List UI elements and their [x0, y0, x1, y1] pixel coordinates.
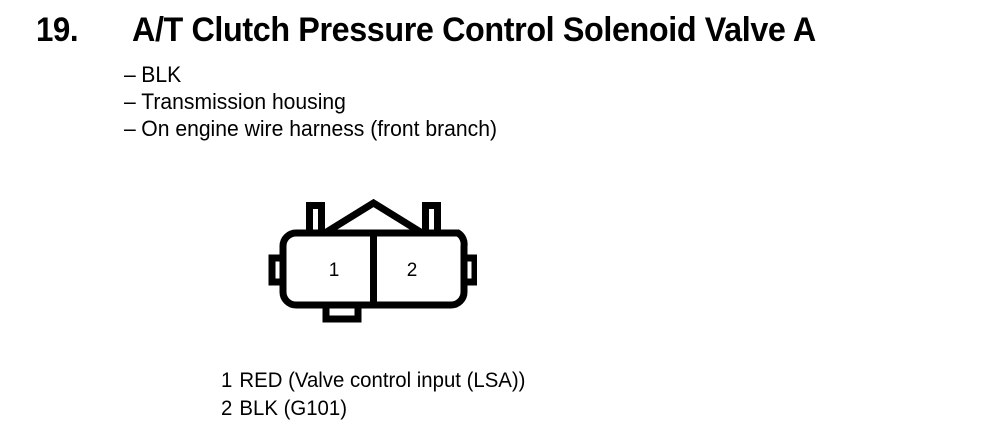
list-item: – BLK [124, 61, 497, 88]
pin-legend: 1 RED (Valve control input (LSA)) 2 BLK … [221, 367, 535, 423]
dash-icon: – [124, 115, 141, 142]
cavity-number-1: 1 [329, 260, 340, 281]
section-heading: 19. A/T Clutch Pressure Control Solenoid… [36, 11, 852, 50]
list-item: – On engine wire harness (front branch) [124, 115, 497, 142]
cavity-number-2: 2 [407, 260, 418, 281]
connector-diagram: 1 2 [262, 192, 477, 327]
connector-outline [272, 203, 475, 319]
list-item-label: Transmission housing [141, 88, 346, 115]
legend-pin-number: 1 [221, 367, 239, 395]
list-item-label: BLK [141, 61, 181, 88]
dash-icon: – [124, 61, 141, 88]
list-item-label: On engine wire harness (front branch) [141, 115, 497, 142]
legend-pin-number: 2 [221, 395, 239, 423]
latch-triangle [325, 203, 422, 233]
legend-row: 1 RED (Valve control input (LSA)) [221, 367, 525, 395]
legend-row: 2 BLK (G101) [221, 395, 525, 423]
left-post [310, 206, 322, 234]
connector-detail-list: – BLK – Transmission housing – On engine… [124, 61, 513, 142]
section-number: 19. [36, 11, 78, 50]
legend-pin-description: RED (Valve control input (LSA)) [239, 367, 525, 395]
list-item: – Transmission housing [124, 88, 497, 115]
dash-icon: – [124, 88, 141, 115]
legend-pin-description: BLK (G101) [239, 395, 347, 423]
page-title: A/T Clutch Pressure Control Solenoid Val… [132, 11, 816, 50]
right-post [426, 206, 438, 234]
